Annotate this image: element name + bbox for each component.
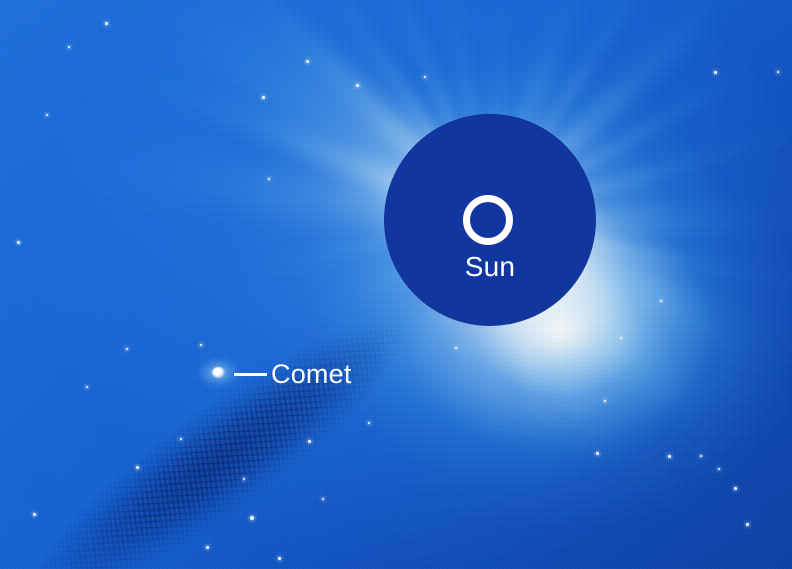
star-point [620,337,622,339]
star-point [718,468,720,470]
sun-label: Sun [385,252,595,282]
star-point [306,60,309,63]
sun-disk-outline-icon [463,195,513,245]
star-point [105,22,108,25]
star-point [700,455,702,457]
star-point [746,523,749,526]
star-point [734,487,737,490]
comet-marker-icon [212,367,225,378]
star-point [714,71,717,74]
star-point [356,84,359,87]
star-point [68,46,70,48]
comet-leader-line [234,373,267,376]
star-point [668,455,671,458]
star-point [17,241,20,244]
star-point [262,96,265,99]
coronagraph-image: Sun Comet [0,0,792,569]
star-point [777,71,779,73]
star-point [424,76,426,78]
star-point [46,114,48,116]
comet-label: Comet [271,360,352,388]
star-point [596,452,599,455]
star-point [604,400,606,402]
star-point [540,314,542,316]
star-point [660,300,662,302]
